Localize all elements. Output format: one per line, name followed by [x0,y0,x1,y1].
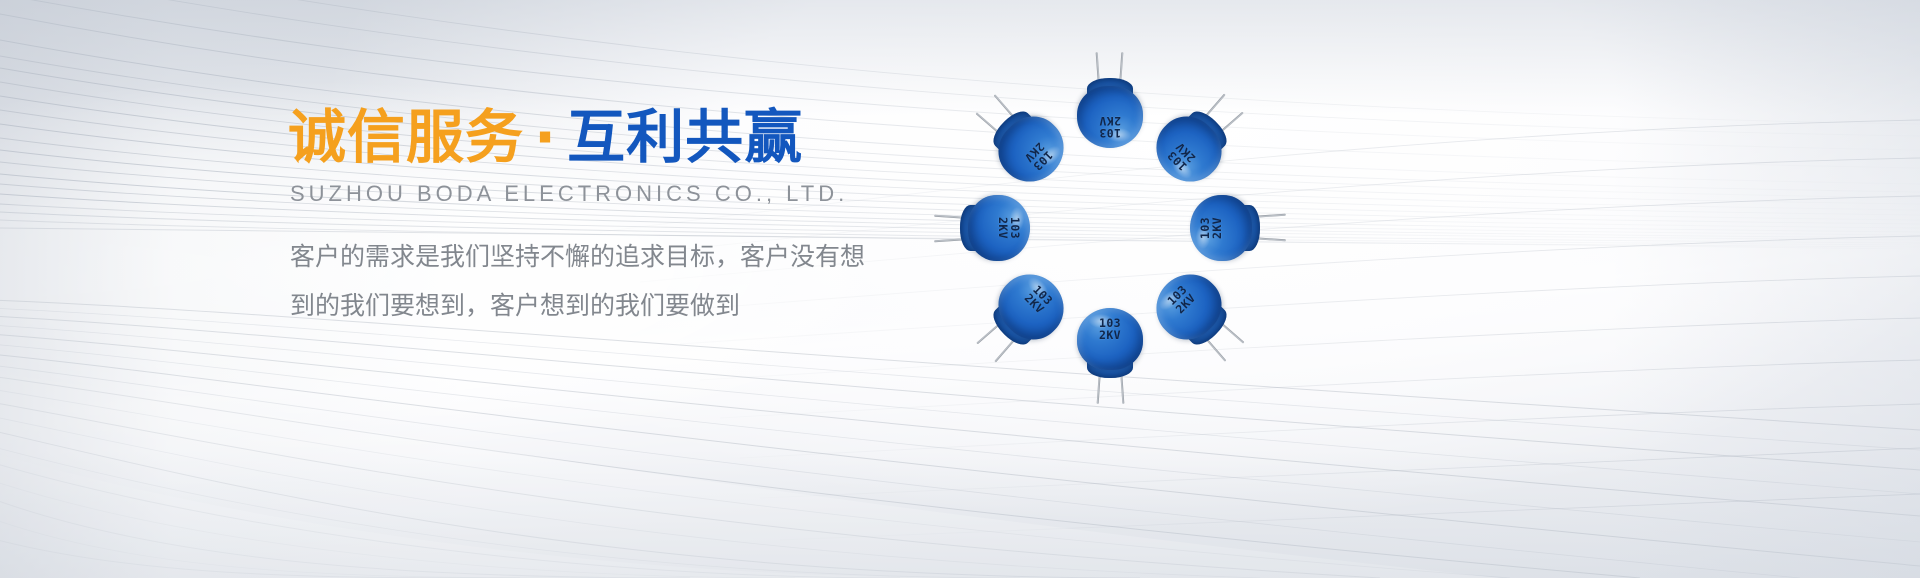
capacitor-marking-line-2: 2KV [1211,195,1223,261]
capacitor-body: 1032KV [968,195,1030,261]
capacitor-body: 1032KV [986,104,1077,195]
capacitor-marking: 1032KV [1150,125,1214,189]
capacitor-body: 1032KV [1077,86,1143,148]
capacitor-body: 1032KV [1143,261,1234,352]
capacitor-marking: 1032KV [1007,268,1071,332]
headline-separator-dot: · [524,103,567,171]
capacitor-body: 1032KV [1077,308,1143,370]
capacitor-marking-line-1: 103 [1077,127,1143,139]
capacitor-marking: 1032KV [1007,125,1071,189]
hero-description: 客户的需求是我们坚持不懈的追求目标，客户没有想 到的我们要想到，客户想到的我们要… [290,233,930,331]
capacitor-ring-image: 1032KV1032KV1032KV1032KV1032KV1032KV1032… [995,113,1225,343]
capacitor-marking: 1032KV [1077,115,1143,139]
hero-description-line-2: 到的我们要想到，客户想到的我们要做到 [290,282,930,331]
hero-description-line-1: 客户的需求是我们坚持不懈的追求目标，客户没有想 [290,233,930,282]
capacitor-body: 1032KV [1190,195,1252,261]
capacitor-marking-line-2: 2KV [1077,115,1143,127]
capacitor-marking: 1032KV [1077,317,1143,341]
hero-banner: 诚信服务·互利共赢 SUZHOU BODA ELECTRONICS CO., L… [0,0,1920,578]
capacitor-body: 1032KV [986,261,1077,352]
capacitor-marking: 1032KV [1150,268,1214,332]
capacitor-body: 1032KV [1143,104,1234,195]
capacitor-marking: 1032KV [1199,195,1223,261]
capacitor-marking-line-2: 2KV [1077,329,1143,341]
page-title: 诚信服务·互利共赢 [288,108,988,167]
hero-text-block: 诚信服务·互利共赢 SUZHOU BODA ELECTRONICS CO., L… [288,108,988,331]
headline-part-orange: 诚信服务 [288,103,524,171]
company-name-english: SUZHOU BODA ELECTRONICS CO., LTD. [290,181,988,207]
capacitor-marking-line-2: 2KV [997,195,1009,261]
headline-part-blue: 互利共赢 [567,103,803,171]
capacitor-marking: 1032KV [997,195,1021,261]
capacitor-marking-line-1: 103 [1009,195,1021,261]
